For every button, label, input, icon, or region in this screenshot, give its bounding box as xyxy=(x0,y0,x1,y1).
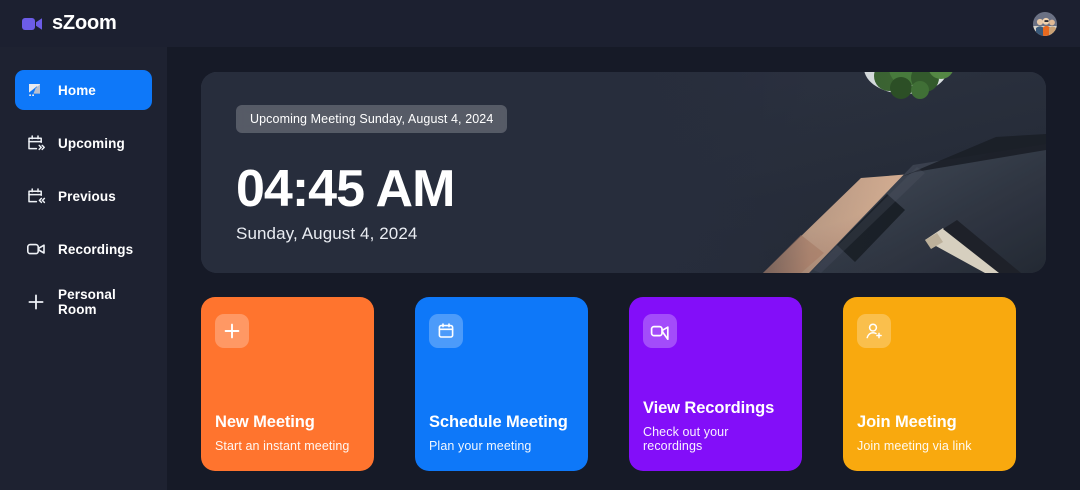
sidebar-item-label: Previous xyxy=(58,189,116,204)
video-camera-icon xyxy=(643,314,677,348)
calendar-next-icon xyxy=(26,133,46,153)
plus-icon xyxy=(215,314,249,348)
video-camera-icon xyxy=(26,239,46,259)
sidebar-item-home[interactable]: Home xyxy=(15,70,152,110)
broken-image-icon xyxy=(26,80,46,100)
sidebar-item-label: Personal Room xyxy=(58,287,152,317)
sidebar-item-label: Upcoming xyxy=(58,136,125,151)
video-camera-icon xyxy=(22,13,44,35)
calendar-icon xyxy=(429,314,463,348)
card-title: View Recordings xyxy=(643,399,788,418)
top-bar: sZoom xyxy=(0,0,1080,47)
card-subtitle: Start an instant meeting xyxy=(215,439,360,453)
sidebar-item-upcoming[interactable]: Upcoming xyxy=(15,123,152,163)
card-text: New Meeting Start an instant meeting xyxy=(215,413,360,453)
card-title: Schedule Meeting xyxy=(429,413,574,432)
sidebar-item-previous[interactable]: Previous xyxy=(15,176,152,216)
hero-banner: Upcoming Meeting Sunday, August 4, 2024 … xyxy=(201,72,1046,273)
card-title: Join Meeting xyxy=(857,413,1002,432)
card-text: Schedule Meeting Plan your meeting xyxy=(429,413,574,453)
calendar-previous-icon xyxy=(26,186,46,206)
current-time: 04:45 AM xyxy=(236,163,756,215)
card-view-recordings[interactable]: View Recordings Check out your recording… xyxy=(629,297,802,471)
plus-icon xyxy=(26,292,46,312)
sidebar-item-recordings[interactable]: Recordings xyxy=(15,229,152,269)
card-subtitle: Plan your meeting xyxy=(429,439,574,453)
card-text: View Recordings Check out your recording… xyxy=(643,399,788,453)
hero-time-block: 04:45 AM Sunday, August 4, 2024 xyxy=(236,163,756,244)
sidebar-item-label: Home xyxy=(58,83,96,98)
sidebar: Home Upcoming xyxy=(0,47,167,490)
main-content: Upcoming Meeting Sunday, August 4, 2024 … xyxy=(167,47,1080,490)
card-new-meeting[interactable]: New Meeting Start an instant meeting xyxy=(201,297,374,471)
sidebar-item-personal-room[interactable]: Personal Room xyxy=(15,282,152,322)
app-root: sZoom xyxy=(0,0,1080,490)
brand-name: sZoom xyxy=(52,12,117,35)
card-text: Join Meeting Join meeting via link xyxy=(857,413,1002,453)
card-subtitle: Check out your recordings xyxy=(643,425,788,453)
avatar[interactable] xyxy=(1033,12,1057,36)
card-schedule-meeting[interactable]: Schedule Meeting Plan your meeting xyxy=(415,297,588,471)
person-add-icon xyxy=(857,314,891,348)
brand-logo[interactable]: sZoom xyxy=(22,12,117,35)
sidebar-item-label: Recordings xyxy=(58,242,133,257)
card-join-meeting[interactable]: Join Meeting Join meeting via link xyxy=(843,297,1016,471)
upcoming-meeting-badge: Upcoming Meeting Sunday, August 4, 2024 xyxy=(236,105,507,133)
current-date: Sunday, August 4, 2024 xyxy=(236,224,756,244)
card-subtitle: Join meeting via link xyxy=(857,439,1002,453)
card-title: New Meeting xyxy=(215,413,360,432)
hero-content: Upcoming Meeting Sunday, August 4, 2024 … xyxy=(236,72,756,273)
action-cards: New Meeting Start an instant meeting Sch… xyxy=(201,297,1046,471)
